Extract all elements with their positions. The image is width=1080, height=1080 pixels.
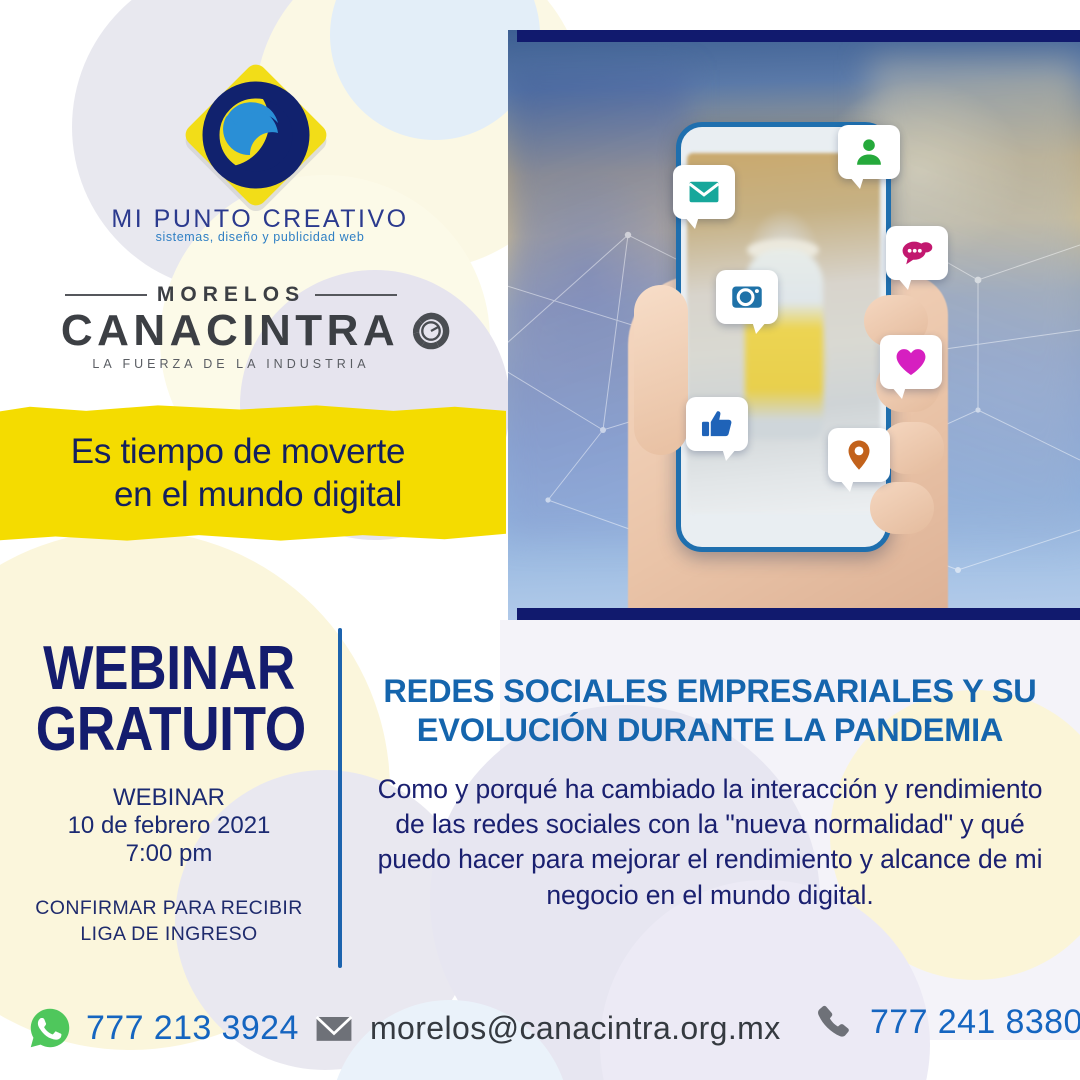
banner-line-2: en el mundo digital (114, 473, 402, 516)
rule-left (65, 294, 147, 296)
envelope-icon (312, 1006, 356, 1050)
canacintra-state: MORELOS (157, 283, 305, 307)
mi-punto-creativo-logo (176, 55, 336, 215)
camera-icon (730, 280, 764, 314)
vertical-divider (338, 628, 342, 968)
bubble-thumbs-up (686, 397, 748, 451)
webinar-schedule: WEBINAR 10 de febrero 2021 7:00 pm (14, 784, 324, 869)
whatsapp-number: 777 213 3924 (86, 1009, 299, 1048)
photo-frame-top-border (517, 30, 1080, 42)
bubble-chat (886, 226, 948, 280)
webinar-badge-block: WEBINAR GRATUITO WEBINAR 10 de febrero 2… (14, 640, 324, 947)
webinar-schedule-label: WEBINAR (14, 784, 324, 812)
chat-bubble-icon (900, 236, 934, 270)
confirm-note-line-2: LIGA DE INGRESO (14, 921, 324, 947)
yellow-banner: Es tiempo de moverte en el mundo digital (0, 404, 506, 542)
photo-frame-bottom-border (517, 608, 1080, 620)
bubble-heart (880, 335, 942, 389)
bubble-person (838, 125, 900, 179)
rule-right (315, 294, 397, 296)
phone-handset-icon (812, 1000, 856, 1044)
webinar-schedule-date: 10 de febrero 2021 (14, 812, 324, 840)
webinar-schedule-time: 7:00 pm (14, 840, 324, 868)
phone-number: 777 241 8380 (870, 1003, 1080, 1042)
canacintra-logo: MORELOS CANACINTRA LA FUERZA DE LA INDUS… (22, 283, 492, 371)
confirm-note-line-1: CONFIRMAR PARA RECIBIR (14, 895, 324, 921)
agency-tagline: sistemas, diseño y publicidad web (60, 230, 460, 244)
whatsapp-icon (28, 1006, 72, 1050)
bubble-camera (716, 270, 778, 324)
person-icon (852, 135, 886, 169)
contact-footer: 777 213 3924 morelos@canacintra.org.mx 7… (0, 1000, 1080, 1072)
canacintra-wordmark: CANACINTRA (61, 309, 399, 353)
industry-swirl-icon (409, 309, 453, 353)
email-address: morelos@canacintra.org.mx (370, 1010, 781, 1047)
envelope-icon (687, 175, 721, 209)
webinar-badge-line-2: GRATUITO (36, 701, 303, 760)
topic-column: REDES SOCIALES EMPRESARIALES Y SU EVOLUC… (365, 672, 1055, 913)
bubble-location-pin (828, 428, 890, 482)
location-pin-icon (842, 438, 876, 472)
contact-email[interactable]: morelos@canacintra.org.mx (312, 1006, 781, 1050)
banner-line-1: Es tiempo de moverte (71, 430, 405, 473)
canacintra-top-row: MORELOS (22, 283, 492, 307)
canacintra-main-row: CANACINTRA (22, 309, 492, 353)
hero-photo (508, 30, 1080, 620)
contact-phone[interactable]: 777 241 8380 (812, 1000, 1080, 1044)
confirm-note: CONFIRMAR PARA RECIBIR LIGA DE INGRESO (14, 895, 324, 948)
topic-description: Como y porqué ha cambiado la interacción… (365, 772, 1055, 913)
webinar-badge-line-1: WEBINAR (36, 640, 303, 699)
poster-canvas: MI PUNTO CREATIVO sistemas, diseño y pub… (0, 0, 1080, 1080)
thumb (634, 285, 688, 455)
canacintra-tagline: LA FUERZA DE LA INDUSTRIA (22, 357, 492, 371)
thumbs-up-icon (700, 407, 734, 441)
finger-4 (870, 482, 934, 534)
bubble-envelope (673, 165, 735, 219)
contact-whatsapp[interactable]: 777 213 3924 (28, 1006, 299, 1050)
topic-title: REDES SOCIALES EMPRESARIALES Y SU EVOLUC… (365, 672, 1055, 750)
heart-icon (894, 345, 928, 379)
